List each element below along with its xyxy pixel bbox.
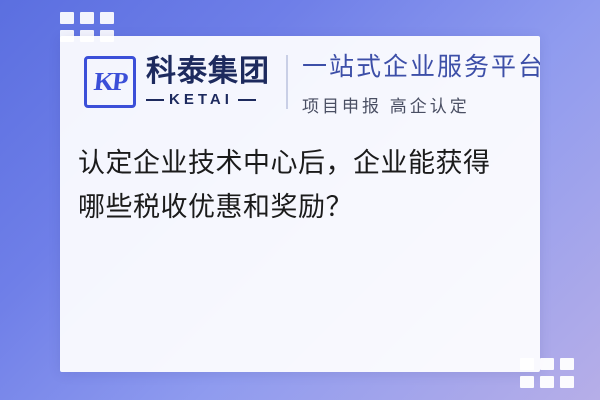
article-title-line-2: 哪些税收优惠和奖励？ [78,186,522,230]
dot [60,12,74,24]
slogan-group: 一站式企业服务平台 项目申报 高企认定 [302,47,534,117]
slogan-sub: 项目申报 高企认定 [302,92,534,117]
dot [560,358,574,370]
brand-name-en-row: KETAI [146,92,270,107]
dot [540,376,554,388]
brand-name-group: 科泰集团 KETAI [146,57,270,107]
dot [540,358,554,370]
header-divider [286,55,288,109]
article-title: 认定企业技术中心后，企业能获得 哪些税收优惠和奖励？ [60,128,540,229]
logo-rule-left-icon [146,99,164,101]
dot [520,358,534,370]
slogan-main: 一站式企业服务平台 [302,47,534,83]
brand-logo: KP 科泰集团 KETAI [84,56,270,108]
brand-name-en: KETAI [169,92,233,107]
card-header: KP 科泰集团 KETAI 一站式企业服务平台 项目申报 高企认定 [60,36,540,128]
logo-monogram-icon: KP [84,56,136,108]
decorative-dot-grid-bottom [520,358,574,388]
dot [560,376,574,388]
dot [520,376,534,388]
brand-name-cn: 科泰集团 [146,57,270,87]
dot [100,12,114,24]
article-title-line-1: 认定企业技术中心后，企业能获得 [78,142,522,186]
dot [80,12,94,24]
content-card: KP 科泰集团 KETAI 一站式企业服务平台 项目申报 高企认定 认定企业技 [60,36,540,372]
logo-monogram-text: KP [92,67,127,97]
logo-rule-right-icon [238,99,256,101]
poster-canvas: KP 科泰集团 KETAI 一站式企业服务平台 项目申报 高企认定 认定企业技 [0,0,600,400]
